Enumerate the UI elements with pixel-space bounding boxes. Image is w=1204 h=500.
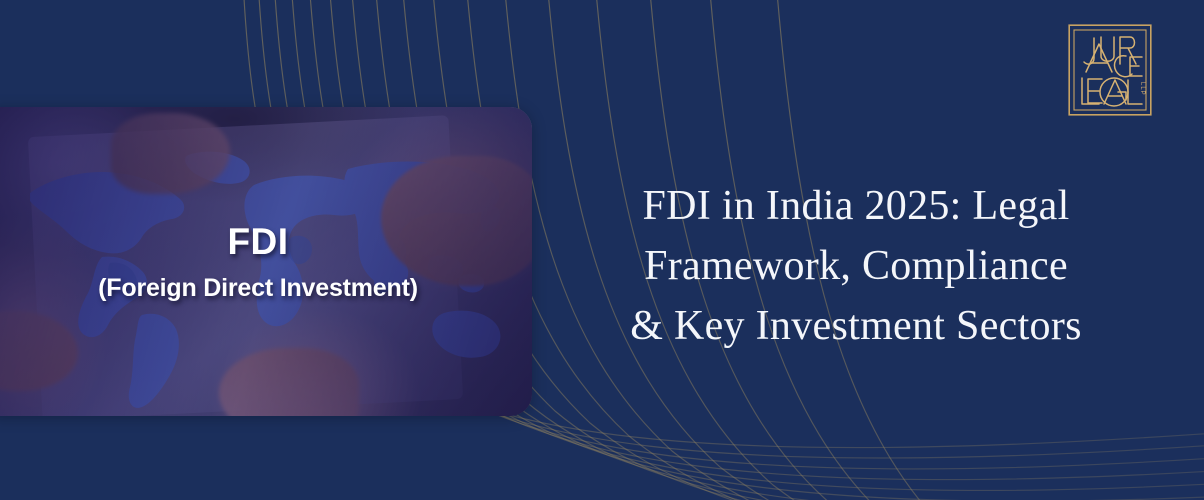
card-subtitle: (Foreign Direct Investment): [98, 276, 418, 301]
article-hero-banner: FDI (Foreign Direct Investment) FDI in I…: [0, 0, 1204, 500]
page-title: FDI in India 2025: Legal Framework, Comp…: [596, 176, 1116, 356]
card-text-block: FDI (Foreign Direct Investment): [0, 107, 532, 416]
headline-line-1: FDI in India 2025: Legal: [596, 176, 1116, 236]
headline-line-3: & Key Investment Sectors: [596, 296, 1116, 356]
card-title: FDI: [227, 223, 288, 260]
jura-ace-legal-llp-logo[interactable]: LLP: [1068, 24, 1152, 116]
fdi-photo-card: FDI (Foreign Direct Investment): [0, 107, 532, 416]
headline-line-2: Framework, Compliance: [596, 236, 1116, 296]
logo-suffix: LLP: [1139, 82, 1145, 96]
